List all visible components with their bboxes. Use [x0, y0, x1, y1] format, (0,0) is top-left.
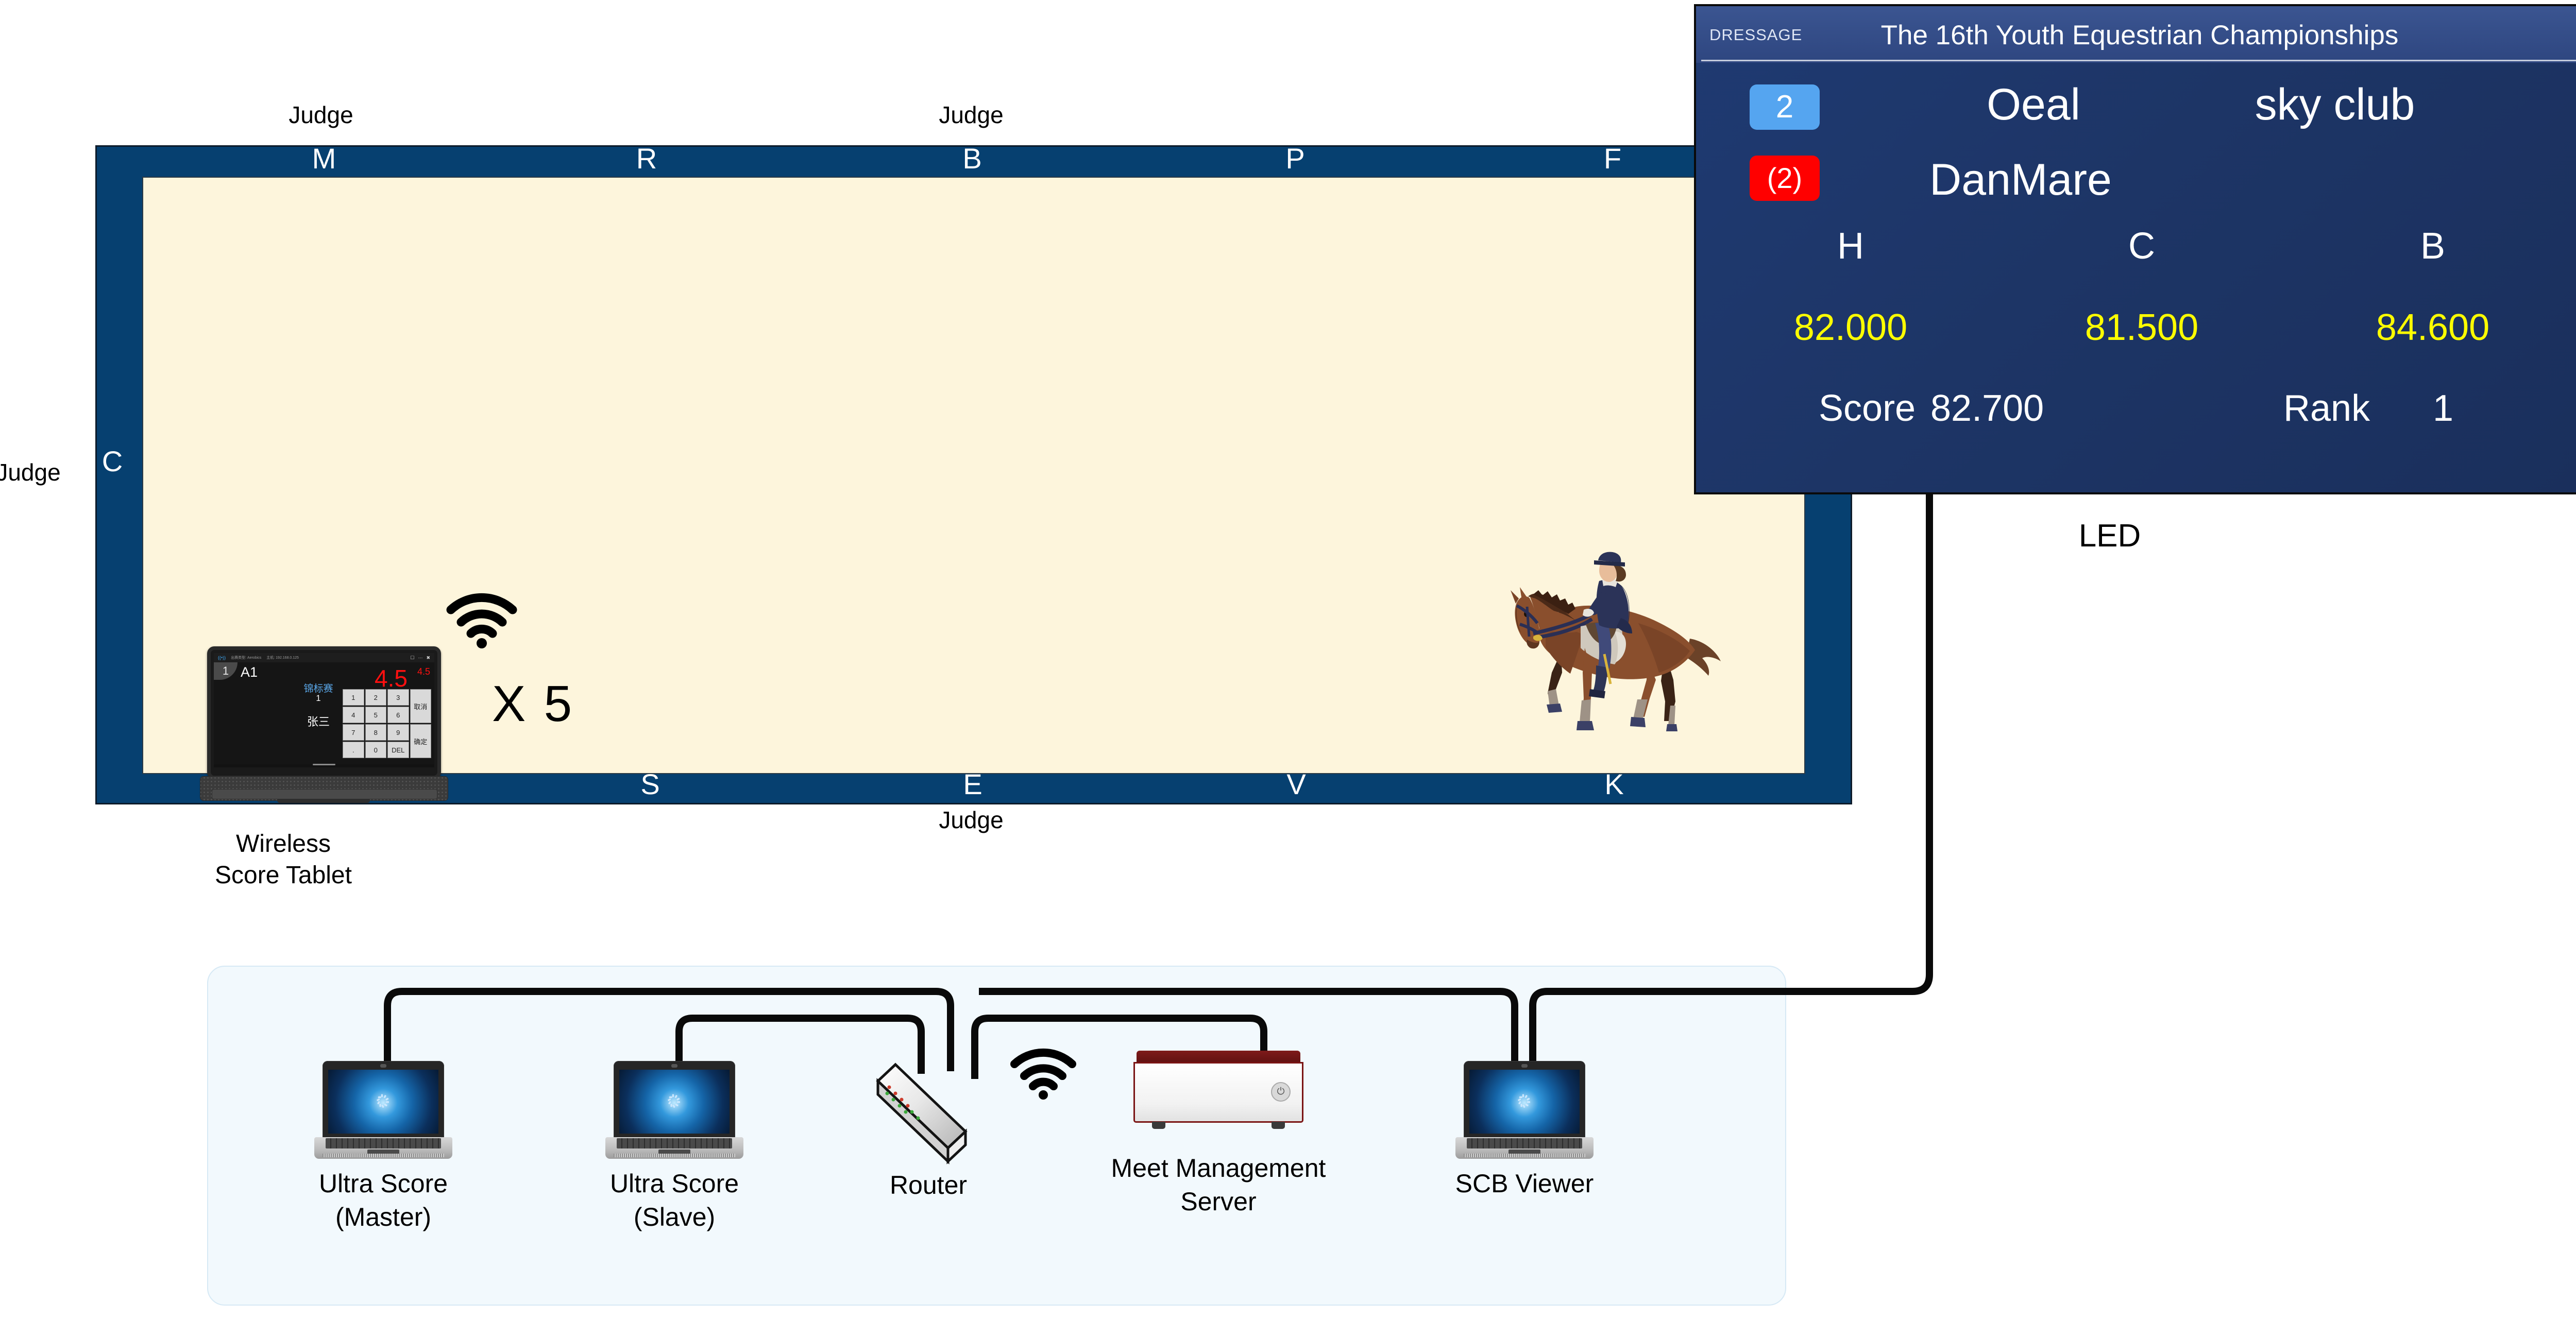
- led-header-divider: [1701, 60, 2576, 61]
- device-label-line1: Ultra Score: [566, 1167, 783, 1201]
- keypad-key-7[interactable]: 7: [343, 724, 364, 741]
- led-judge-score-h: 82.000: [1742, 309, 1959, 346]
- arena-letter-k: K: [1594, 770, 1635, 799]
- tablet-caption-line2: Score Tablet: [155, 860, 412, 891]
- laptop-camera-icon: [380, 1064, 386, 1068]
- keypad-key-confirm[interactable]: 确定: [410, 724, 432, 758]
- tablet-multiplier-label: X 5: [492, 675, 574, 733]
- arena-letter-b: B: [952, 144, 993, 173]
- arena-letter-m: M: [303, 144, 345, 173]
- device-label-ultra-score-master: Ultra Score (Master): [275, 1167, 492, 1234]
- led-judge-letter-c: C: [2033, 228, 2250, 265]
- laptop-base: [314, 1137, 452, 1159]
- more-icon[interactable]: ⋯: [418, 655, 422, 661]
- laptop-icon[interactable]: [605, 1061, 743, 1159]
- router-icon[interactable]: [855, 1058, 1005, 1167]
- device-label-line1: Meet Management: [1110, 1152, 1327, 1185]
- tablet-body: ((•)) 出赛类型: Aerobics 主机: 192.168.0.125 ☐…: [207, 646, 441, 779]
- laptop-vent: [614, 1154, 735, 1157]
- server-foot-right: [1272, 1122, 1285, 1129]
- keypad-key-dot[interactable]: .: [343, 742, 364, 758]
- keypad-key-1[interactable]: 1: [343, 689, 364, 706]
- tablet-status-bar: ((•)) 出赛类型: Aerobics 主机: 192.168.0.125 ☐…: [214, 653, 434, 662]
- led-horse-name: DanMare: [1876, 155, 2165, 205]
- laptop-keyboard: [617, 1138, 732, 1148]
- crop-icon[interactable]: ☐: [410, 655, 414, 661]
- tablet-status-text-1: 出赛类型: Aerobics: [231, 655, 261, 660]
- tablet-status-text-2: 主机: 192.168.0.125: [266, 655, 299, 660]
- windows-logo-icon: [666, 1093, 683, 1110]
- laptop-camera-icon: [671, 1064, 677, 1068]
- arena-letter-f: F: [1592, 144, 1633, 173]
- dressage-horse-rider-icon: [1484, 551, 1726, 752]
- led-scoreboard: DRESSAGE The 16th Youth Equestrian Champ…: [1694, 4, 2576, 494]
- laptop-icon[interactable]: [1455, 1061, 1594, 1159]
- led-club-name: sky club: [2191, 79, 2479, 130]
- laptop-keyboard: [326, 1138, 441, 1148]
- wifi-icon: [1010, 1048, 1077, 1100]
- wireless-score-tablet[interactable]: ((•)) 出赛类型: Aerobics 主机: 192.168.0.125 ☐…: [200, 646, 448, 801]
- device-scb-viewer[interactable]: SCB Viewer: [1455, 1061, 1594, 1159]
- led-event-title: The 16th Youth Equestrian Championships: [1696, 20, 2576, 51]
- tablet-dock-base: [200, 776, 448, 801]
- tablet-dock-tray: [212, 789, 437, 799]
- laptop-screen: [328, 1070, 438, 1134]
- device-label-line1: Router: [820, 1169, 1037, 1202]
- laptop-base: [1455, 1137, 1594, 1159]
- keypad-key-2[interactable]: 2: [365, 689, 387, 706]
- keypad-key-3[interactable]: 3: [387, 689, 409, 706]
- server-foot-left: [1152, 1122, 1165, 1129]
- led-judge-score-c: 81.500: [2033, 309, 2250, 346]
- led-judge-cell-b: B 84.600: [2325, 228, 2541, 346]
- keypad-key-cancel[interactable]: 取消: [410, 689, 432, 723]
- tablet-panel-code: A1: [241, 664, 258, 680]
- arena-letter-v: V: [1276, 770, 1317, 799]
- led-bib-alt-badge: (2): [1750, 156, 1820, 201]
- tablet-big-score: 4.5: [366, 666, 416, 690]
- wifi-signal-icon: ((•)): [218, 655, 226, 660]
- laptop-lid: [1464, 1061, 1585, 1138]
- device-meet-management-server[interactable]: ⏻ Meet Management Server: [1133, 1051, 1303, 1133]
- laptop-lid: [323, 1061, 444, 1138]
- device-label-line2: (Slave): [566, 1201, 783, 1234]
- judge-label-left: Judge: [0, 458, 85, 486]
- judge-label-bottom: Judge: [914, 806, 1028, 834]
- device-router[interactable]: Router: [855, 1058, 1005, 1167]
- arena-letter-e: E: [952, 770, 993, 799]
- tablet-small-score: 4.5: [417, 666, 430, 677]
- device-label-line2: Server: [1110, 1185, 1327, 1219]
- led-judge-score-b: 84.600: [2325, 309, 2541, 346]
- laptop-vent: [323, 1154, 444, 1157]
- led-bib-number-badge: 2: [1750, 84, 1820, 130]
- arena-letter-r: R: [626, 144, 667, 173]
- tablet-dock-foot: [277, 799, 370, 803]
- device-label-line2: (Master): [275, 1201, 492, 1234]
- led-rank-value: 1: [2433, 387, 2453, 430]
- keypad-key-4[interactable]: 4: [343, 707, 364, 723]
- judge-label-top-left: Judge: [264, 101, 378, 129]
- power-button-icon[interactable]: ⏻: [1271, 1082, 1291, 1102]
- device-label-line1: SCB Viewer: [1416, 1167, 1633, 1201]
- arena-letter-s: S: [630, 770, 671, 799]
- keypad-key-9[interactable]: 9: [387, 724, 409, 741]
- led-score-label: Score: [1819, 387, 1916, 430]
- tablet-screen[interactable]: ((•)) 出赛类型: Aerobics 主机: 192.168.0.125 ☐…: [214, 653, 434, 767]
- tablet-keypad[interactable]: 1 2 3 取消 4 5 6 7 8 9 确定 . 0 DEL: [343, 689, 431, 758]
- led-rider-name: Oeal: [1918, 79, 2149, 130]
- arena-letter-c: C: [92, 447, 133, 476]
- device-label-ultra-score-slave: Ultra Score (Slave): [566, 1167, 783, 1234]
- device-label-line1: Ultra Score: [275, 1167, 492, 1201]
- device-label-router: Router: [820, 1169, 1037, 1202]
- keypad-key-6[interactable]: 6: [387, 707, 409, 723]
- laptop-icon[interactable]: [314, 1061, 452, 1159]
- laptop-base: [605, 1137, 743, 1159]
- laptop-lid: [614, 1061, 735, 1138]
- windows-logo-icon: [1516, 1093, 1533, 1110]
- tablet-main-panel: 1 A1 锦标赛 1 张三 4.5 4.5 1 2 3 取消 4 5 6 7 8…: [214, 662, 434, 764]
- wireless-score-tablet-caption: Wireless Score Tablet: [155, 828, 412, 892]
- wifi-icon: [446, 592, 518, 649]
- led-rank-label: Rank: [2283, 387, 2370, 430]
- keypad-key-del[interactable]: DEL: [387, 742, 409, 758]
- judge-label-top-mid: Judge: [914, 101, 1028, 129]
- device-label-meet-management-server: Meet Management Server: [1110, 1152, 1327, 1219]
- laptop-screen: [1469, 1070, 1580, 1134]
- device-ultra-score-master[interactable]: Ultra Score (Master): [314, 1061, 452, 1159]
- led-judge-cell-h: H 82.000: [1742, 228, 1959, 346]
- led-judge-cell-c: C 81.500: [2033, 228, 2250, 346]
- device-ultra-score-slave[interactable]: Ultra Score (Slave): [605, 1061, 743, 1159]
- server-icon[interactable]: ⏻: [1133, 1051, 1303, 1133]
- tablet-home-indicator: [313, 764, 335, 765]
- keypad-key-8[interactable]: 8: [365, 724, 387, 741]
- led-judge-letter-h: H: [1742, 228, 1959, 265]
- tools-icon[interactable]: ✖: [426, 655, 430, 661]
- arena-letter-p: P: [1275, 144, 1316, 173]
- tablet-corner-number: 1: [214, 662, 238, 680]
- keypad-key-0[interactable]: 0: [365, 742, 387, 758]
- tablet-caption-line1: Wireless: [155, 828, 412, 860]
- led-score-value: 82.700: [1930, 387, 2044, 430]
- device-label-scb-viewer: SCB Viewer: [1416, 1167, 1633, 1201]
- laptop-screen: [619, 1070, 730, 1134]
- led-header: DRESSAGE The 16th Youth Equestrian Champ…: [1696, 6, 2576, 63]
- laptop-vent: [1464, 1154, 1585, 1157]
- keypad-key-5[interactable]: 5: [365, 707, 387, 723]
- led-judge-letter-b: B: [2325, 228, 2541, 265]
- laptop-keyboard: [1467, 1138, 1582, 1148]
- server-chassis: ⏻: [1133, 1062, 1303, 1123]
- windows-logo-icon: [375, 1093, 392, 1110]
- led-caption: LED: [2025, 518, 2195, 554]
- laptop-camera-icon: [1521, 1064, 1528, 1068]
